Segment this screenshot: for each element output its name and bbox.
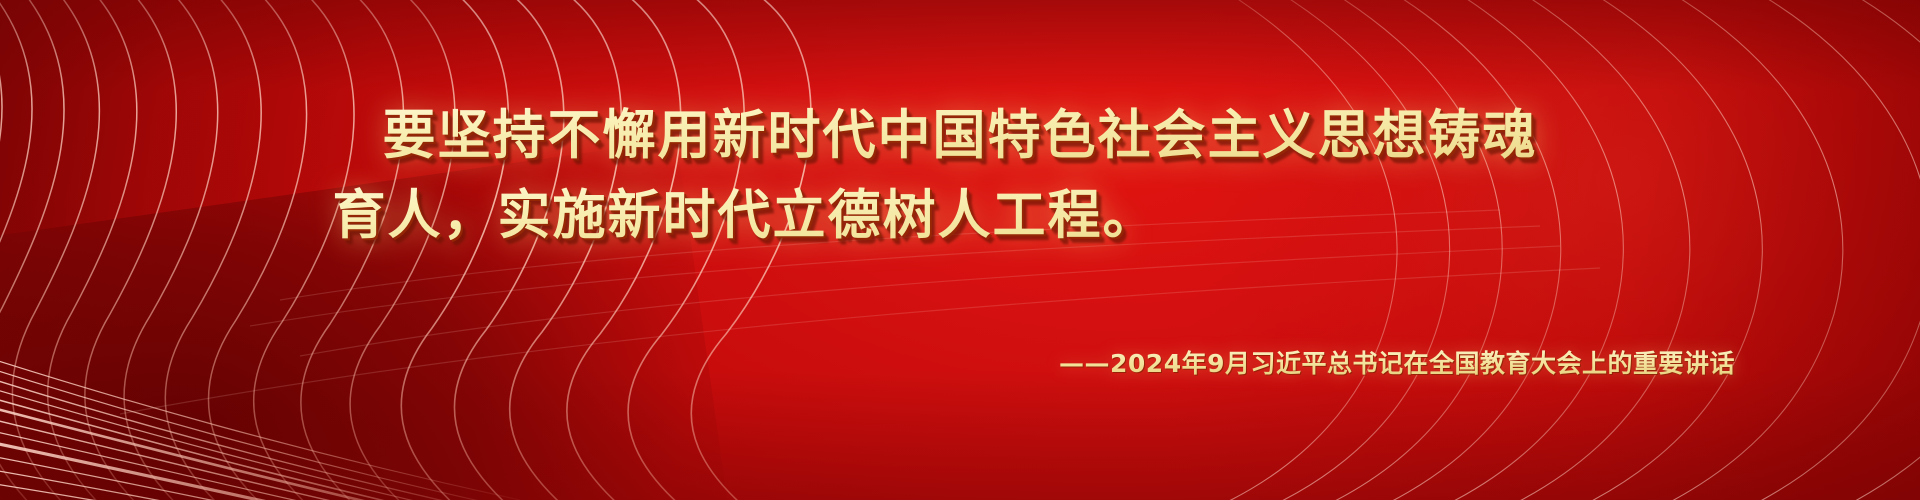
quote-block: 要坚持不懈用新时代中国特色社会主义思想铸魂 育人，实施新时代立德树人工程。 [0,96,1920,256]
quote-line-1: 要坚持不懈用新时代中国特色社会主义思想铸魂 [0,96,1920,176]
attribution-text: ——2024年9月习近平总书记在全国教育大会上的重要讲话 [1059,344,1735,380]
banner-root: 要坚持不懈用新时代中国特色社会主义思想铸魂 育人，实施新时代立德树人工程。 ——… [0,0,1920,500]
quote-line-2: 育人，实施新时代立德树人工程。 [0,176,1920,256]
banner-content: 要坚持不懈用新时代中国特色社会主义思想铸魂 育人，实施新时代立德树人工程。 ——… [0,0,1920,500]
